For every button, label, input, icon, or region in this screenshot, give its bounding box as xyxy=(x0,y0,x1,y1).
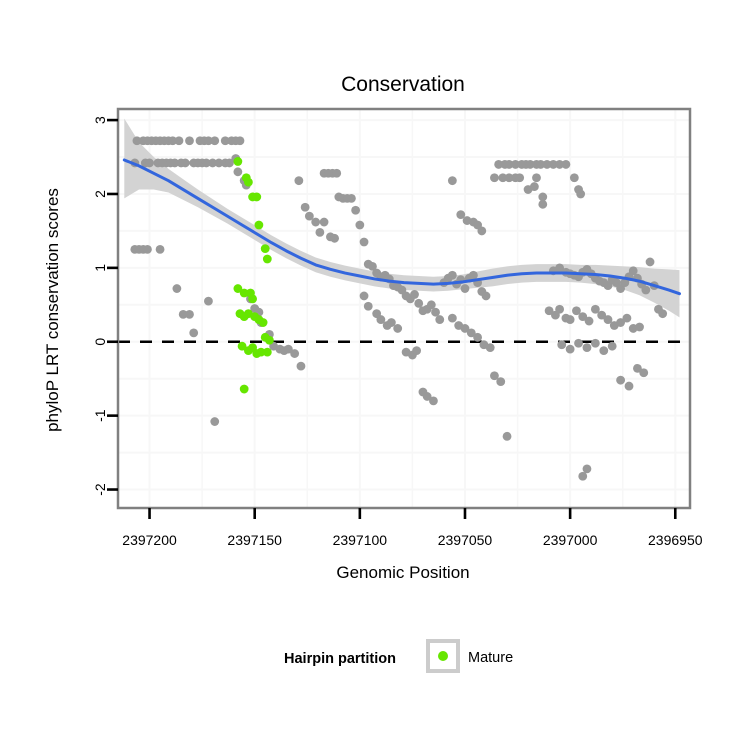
x-tick-label: 2397050 xyxy=(438,532,493,548)
scatter-point-other[interactable] xyxy=(311,218,320,227)
scatter-point-other[interactable] xyxy=(576,190,585,199)
scatter-point-other[interactable] xyxy=(360,238,369,247)
legend-entry-label: Mature xyxy=(468,650,513,666)
scatter-point-other[interactable] xyxy=(236,136,245,145)
scatter-point-other[interactable] xyxy=(473,333,482,342)
scatter-point-other[interactable] xyxy=(320,218,329,227)
scatter-point-other[interactable] xyxy=(410,290,419,299)
scatter-point-other[interactable] xyxy=(315,228,324,237)
scatter-point-mature[interactable] xyxy=(265,336,274,345)
scatter-point-other[interactable] xyxy=(435,315,444,324)
scatter-point-other[interactable] xyxy=(294,176,303,185)
scatter-point-other[interactable] xyxy=(355,221,364,230)
scatter-point-other[interactable] xyxy=(570,173,579,182)
scatter-point-other[interactable] xyxy=(496,377,505,386)
scatter-point-other[interactable] xyxy=(639,368,648,377)
panel-background xyxy=(118,109,690,508)
scatter-point-other[interactable] xyxy=(448,314,457,323)
scatter-point-mature[interactable] xyxy=(233,157,242,166)
scatter-point-other[interactable] xyxy=(290,349,299,358)
scatter-point-other[interactable] xyxy=(532,173,541,182)
scatter-point-other[interactable] xyxy=(503,432,512,441)
scatter-point-other[interactable] xyxy=(599,346,608,355)
scatter-point-other[interactable] xyxy=(156,245,165,254)
scatter-point-other[interactable] xyxy=(448,176,457,185)
scatter-point-other[interactable] xyxy=(591,339,600,348)
x-axis-title: Genomic Position xyxy=(336,563,469,582)
scatter-point-other[interactable] xyxy=(477,227,486,236)
scatter-point-other[interactable] xyxy=(538,200,547,209)
scatter-point-other[interactable] xyxy=(566,315,575,324)
scatter-point-other[interactable] xyxy=(566,345,575,354)
scatter-point-other[interactable] xyxy=(412,346,421,355)
scatter-point-other[interactable] xyxy=(330,234,339,243)
scatter-point-other[interactable] xyxy=(585,317,594,326)
scatter-point-other[interactable] xyxy=(629,266,638,275)
scatter-point-other[interactable] xyxy=(555,305,564,314)
x-tick-label: 2397150 xyxy=(227,532,282,548)
scatter-point-other[interactable] xyxy=(469,271,478,280)
chart-page: Conservation 239720023971502397100239705… xyxy=(0,0,750,750)
y-axis-title: phyloP LRT conservation scores xyxy=(43,188,62,432)
scatter-point-mature[interactable] xyxy=(261,244,270,253)
scatter-point-other[interactable] xyxy=(210,417,219,426)
scatter-point-other[interactable] xyxy=(625,382,634,391)
scatter-point-other[interactable] xyxy=(486,343,495,352)
scatter-point-other[interactable] xyxy=(185,136,194,145)
scatter-point-other[interactable] xyxy=(414,299,423,308)
x-tick-label: 2396950 xyxy=(648,532,703,548)
y-tick-label: 0 xyxy=(92,338,108,346)
scatter-point-mature[interactable] xyxy=(248,294,257,303)
legend-key-mature-dot xyxy=(438,651,448,661)
scatter-point-other[interactable] xyxy=(347,194,356,203)
x-tick-label: 2397100 xyxy=(333,532,388,548)
scatter-point-other[interactable] xyxy=(461,284,470,293)
scatter-point-other[interactable] xyxy=(143,245,152,254)
scatter-point-other[interactable] xyxy=(351,206,360,215)
y-tick-label: -2 xyxy=(92,483,108,496)
scatter-point-mature[interactable] xyxy=(263,255,272,264)
scatter-point-mature[interactable] xyxy=(240,385,249,394)
scatter-point-other[interactable] xyxy=(482,292,491,301)
scatter-point-other[interactable] xyxy=(562,160,571,169)
scatter-point-other[interactable] xyxy=(530,182,539,191)
scatter-point-other[interactable] xyxy=(583,343,592,352)
scatter-point-mature[interactable] xyxy=(252,193,261,202)
scatter-point-other[interactable] xyxy=(623,314,632,323)
scatter-point-other[interactable] xyxy=(360,292,369,301)
scatter-point-other[interactable] xyxy=(557,340,566,349)
scatter-point-other[interactable] xyxy=(431,308,440,317)
scatter-point-other[interactable] xyxy=(490,173,499,182)
scatter-point-other[interactable] xyxy=(393,324,402,333)
plot-title: Conservation xyxy=(341,73,465,96)
x-tick-label: 2397000 xyxy=(543,532,598,548)
conservation-scatter-plot: Conservation 239720023971502397100239705… xyxy=(0,0,750,750)
scatter-point-other[interactable] xyxy=(658,309,667,318)
scatter-point-mature[interactable] xyxy=(263,348,272,357)
scatter-point-other[interactable] xyxy=(635,323,644,332)
scatter-point-other[interactable] xyxy=(646,258,655,267)
scatter-point-other[interactable] xyxy=(145,159,154,168)
scatter-point-other[interactable] xyxy=(364,302,373,311)
scatter-point-other[interactable] xyxy=(301,203,310,212)
scatter-point-other[interactable] xyxy=(608,342,617,351)
scatter-point-other[interactable] xyxy=(175,136,184,145)
legend-title: Hairpin partition xyxy=(284,651,396,667)
scatter-point-other[interactable] xyxy=(332,169,341,178)
scatter-point-other[interactable] xyxy=(641,286,650,295)
y-tick-label: -1 xyxy=(92,409,108,422)
scatter-point-other[interactable] xyxy=(515,173,524,182)
y-tick-label: 3 xyxy=(92,116,108,124)
y-tick-label: 1 xyxy=(92,264,108,272)
x-tick-label: 2397200 xyxy=(122,532,177,548)
scatter-point-other[interactable] xyxy=(427,300,436,309)
y-tick-label: 2 xyxy=(92,190,108,198)
scatter-point-other[interactable] xyxy=(574,339,583,348)
scatter-point-other[interactable] xyxy=(578,472,587,481)
scatter-point-other[interactable] xyxy=(204,297,213,306)
scatter-point-other[interactable] xyxy=(172,284,181,293)
scatter-point-mature[interactable] xyxy=(244,178,253,187)
scatter-point-other[interactable] xyxy=(583,464,592,473)
scatter-point-other[interactable] xyxy=(210,136,219,145)
scatter-point-other[interactable] xyxy=(233,167,242,176)
scatter-point-mature[interactable] xyxy=(259,318,268,327)
plot-panel xyxy=(118,109,690,508)
scatter-point-other[interactable] xyxy=(448,271,457,280)
scatter-point-other[interactable] xyxy=(297,362,306,371)
scatter-point-other[interactable] xyxy=(185,310,194,319)
scatter-point-other[interactable] xyxy=(616,376,625,385)
scatter-point-other[interactable] xyxy=(429,396,438,405)
scatter-point-other[interactable] xyxy=(189,328,198,337)
scatter-point-mature[interactable] xyxy=(254,221,263,230)
scatter-point-other[interactable] xyxy=(181,159,190,168)
